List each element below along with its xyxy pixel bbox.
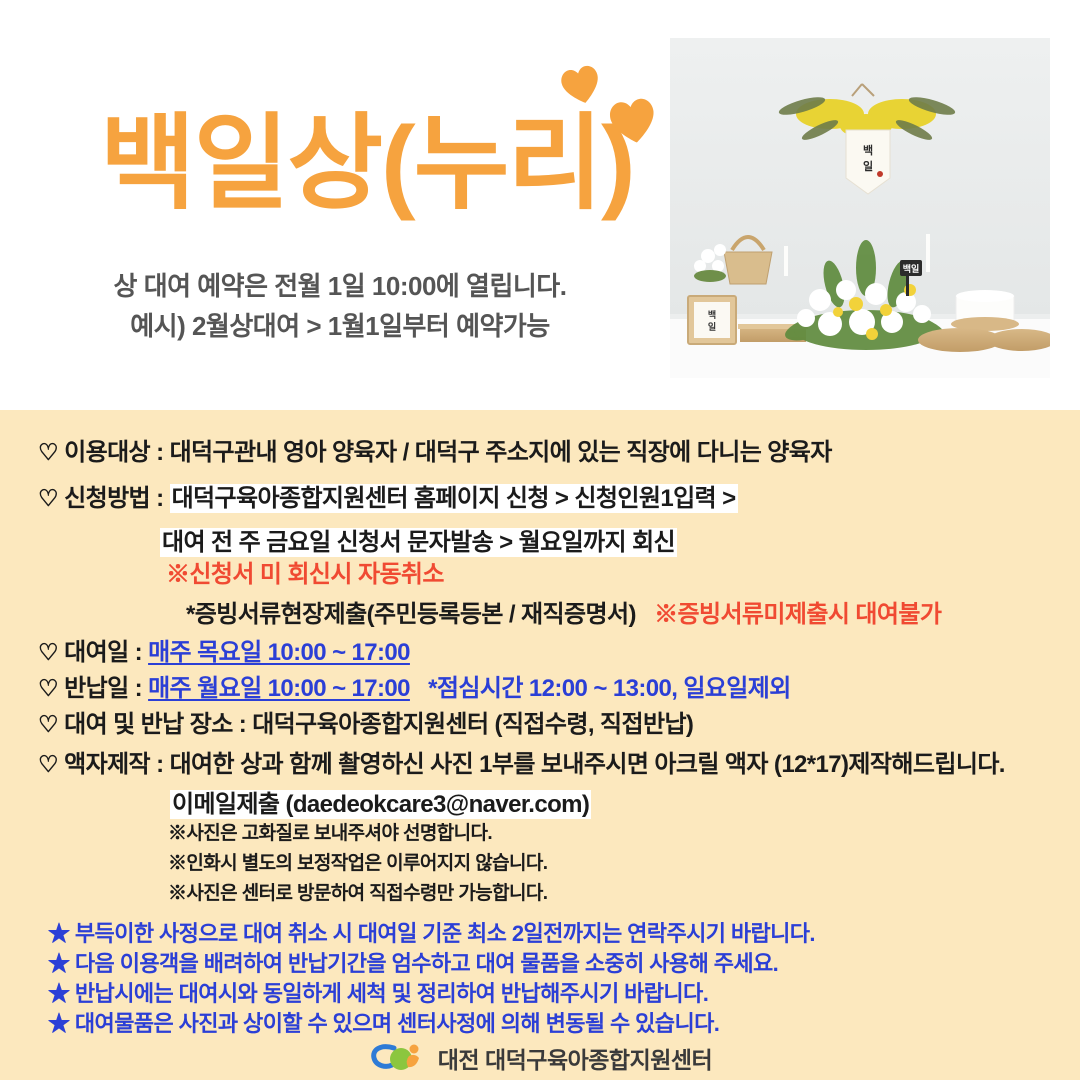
heart-bullet-icon: ♡ [38, 439, 58, 465]
documents-required: *증빙서류현장제출(주민등록등본 / 재직증명서) [186, 601, 636, 628]
info-line-return-day: ♡ 반납일 : 매주 월요일 10:00 ~ 17:00 *점심시간 12:00… [38, 668, 791, 703]
info-line-application-method: ♡ 신청방법 : 대덕구육아종합지원센터 홈페이지 신청 > 신청인원1입력 > [38, 478, 738, 513]
svg-text:일: 일 [863, 159, 873, 173]
svg-text:백일: 백일 [903, 263, 920, 274]
info-label-target-audience: 이용대상 : [64, 439, 169, 466]
hero-section: 백일상(누리) 상 대여 예약은 전월 1일 10:00에 열립니다. 예시) … [0, 0, 1080, 410]
info-line-documents: *증빙서류현장제출(주민등록등본 / 재직증명서) ※증빙서류미제출시 대여불가 [186, 594, 941, 629]
info-value-application-method: 대덕구육아종합지원센터 홈페이지 신청 > 신청인원1입력 > [170, 484, 738, 513]
heart-icon [556, 61, 606, 110]
info-line-auto-cancel-warning: ※신청서 미 회신시 자동취소 [166, 554, 444, 589]
info-value-rental-day: 매주 목요일 10:00 ~ 17:00 [148, 639, 410, 666]
star-note-item: ★ 부득이한 사정으로 대여 취소 시 대여일 기준 최소 2일전까지는 연락주… [48, 916, 815, 948]
info-line-email-submission: 이메일제출 (daedeokcare3@naver.com) [170, 784, 591, 819]
info-line-rental-day: ♡ 대여일 : 매주 목요일 10:00 ~ 17:00 [38, 632, 410, 667]
hero-subtitle-line2: 예시) 2월상대여 > 1월1일부터 예약가능 [0, 306, 680, 346]
info-value-location: 대덕구육아종합지원센터 (직접수령, 직접반납) [252, 711, 693, 738]
star-note-item: ★ 반납시에는 대여시와 동일하게 세척 및 정리하여 반납해주시기 바랍니다. [48, 976, 708, 1008]
warning-documents-missing: ※증빙서류미제출시 대여불가 [654, 601, 941, 628]
heart-bullet-icon: ♡ [38, 639, 58, 665]
heart-bullet-icon: ♡ [38, 675, 58, 701]
heart-bullet-icon: ♡ [38, 711, 58, 737]
note-item: ※사진은 고화질로 보내주셔야 선명합니다. [168, 818, 492, 845]
info-line-target-audience: ♡ 이용대상 : 대덕구관내 영아 양육자 / 대덕구 주소지에 있는 직장에 … [38, 432, 832, 467]
info-value-return-day: 매주 월요일 10:00 ~ 17:00 [148, 675, 410, 702]
poster-root: 백일상(누리) 상 대여 예약은 전월 1일 10:00에 열립니다. 예시) … [0, 0, 1080, 1080]
info-line-frame-production: ♡ 액자제작 : 대여한 상과 함께 촬영하신 사진 1부를 보내주시면 아크릴… [38, 744, 1005, 779]
hanging-banner-text: 백 [863, 143, 873, 157]
heart-bullet-icon: ♡ [38, 485, 58, 511]
svg-text:일: 일 [708, 321, 716, 332]
info-value-frame-production: 대여한 상과 함께 촬영하신 사진 1부를 보내주시면 아크릴 액자 (12*1… [170, 751, 1005, 778]
info-label-return-day: 반납일 : [64, 675, 148, 702]
note-item: ※사진은 센터로 방문하여 직접수령만 가능합니다. [168, 878, 547, 905]
heart-decoration-group [548, 55, 678, 175]
center-logo-icon [368, 1042, 428, 1074]
note-item: ※인화시 별도의 보정작업은 이루어지지 않습니다. [168, 848, 547, 875]
info-label-application-method: 신청방법 : [64, 485, 169, 512]
heart-icon [604, 93, 662, 149]
info-label-rental-day: 대여일 : [64, 639, 148, 666]
warning-auto-cancel: ※신청서 미 회신시 자동취소 [166, 561, 444, 588]
star-note-item: ★ 대여물품은 사진과 상이할 수 있으며 센터사정에 의해 변동될 수 있습니… [48, 1006, 719, 1038]
celebration-table-photo: 백 일 백 [670, 38, 1050, 378]
svg-text:백: 백 [708, 309, 716, 320]
info-note-lunch-hours: *점심시간 12:00 ~ 13:00, 일요일제외 [428, 675, 791, 702]
info-line-location: ♡ 대여 및 반납 장소 : 대덕구육아종합지원센터 (직접수령, 직접반납) [38, 704, 693, 739]
hero-subtitle-line1: 상 대여 예약은 전월 1일 10:00에 열립니다. [0, 266, 680, 306]
info-label-location: 대여 및 반납 장소 : [64, 711, 252, 738]
info-value-application-step2: 대여 전 주 금요일 신청서 문자발송 > 월요일까지 회신 [160, 528, 677, 557]
info-label-frame-production: 액자제작 : [64, 751, 169, 778]
email-submission-value[interactable]: 이메일제출 (daedeokcare3@naver.com) [170, 790, 591, 819]
heart-bullet-icon: ♡ [38, 751, 58, 777]
footer: 대전 대덕구육아종합지원센터 [0, 1036, 1080, 1080]
hero-subtitle: 상 대여 예약은 전월 1일 10:00에 열립니다. 예시) 2월상대여 > … [0, 266, 680, 347]
info-line-application-step2: 대여 전 주 금요일 신청서 문자발송 > 월요일까지 회신 [160, 522, 677, 557]
footer-org-name: 대전 대덕구육아종합지원센터 [438, 1041, 712, 1075]
star-note-item: ★ 다음 이용객을 배려하여 반납기간을 엄수하고 대여 물품을 소중히 사용해… [48, 946, 778, 978]
info-value-target-audience: 대덕구관내 영아 양육자 / 대덕구 주소지에 있는 직장에 다니는 양육자 [170, 439, 832, 466]
